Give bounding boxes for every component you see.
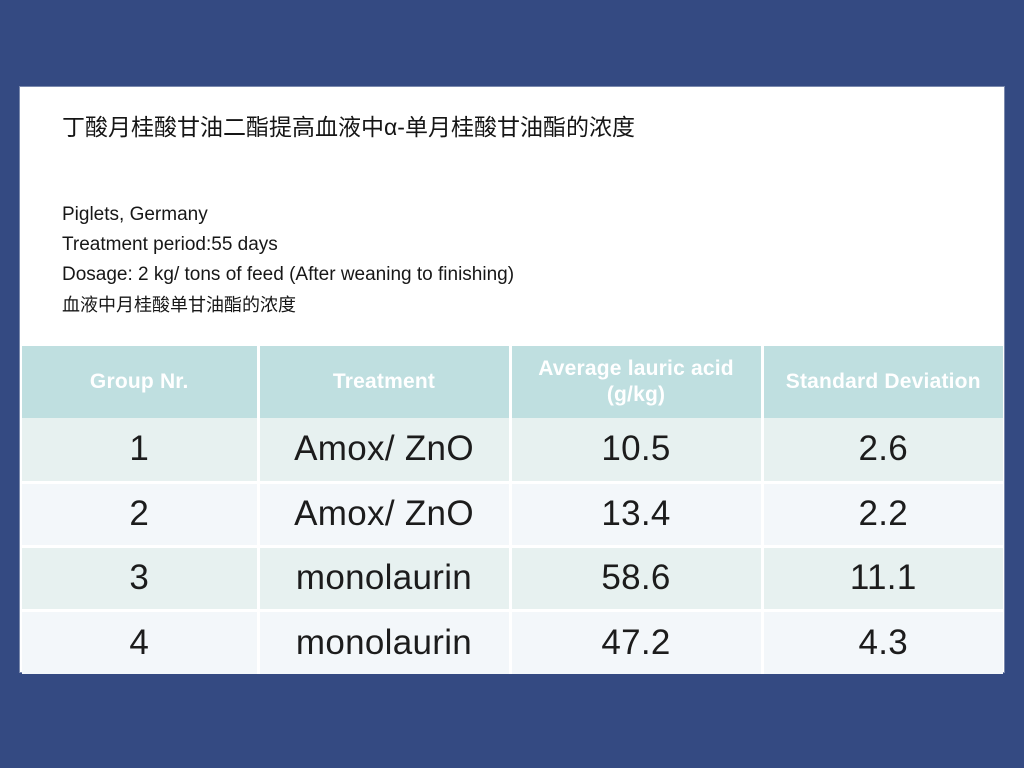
cell-stddev: 4.3	[762, 610, 1003, 674]
cell-group: 2	[22, 482, 258, 546]
table-row: 3 monolaurin 58.6 11.1	[22, 546, 1003, 610]
cell-average: 13.4	[510, 482, 762, 546]
cell-treatment: monolaurin	[258, 610, 510, 674]
cell-treatment: monolaurin	[258, 546, 510, 610]
body-line-dosage: Dosage: 2 kg/ tons of feed (After weanin…	[62, 260, 962, 290]
table-header-row: Group Nr. Treatment Average lauric acid …	[22, 346, 1003, 418]
cell-average: 10.5	[510, 418, 762, 482]
column-header-standard-deviation: Standard Deviation	[762, 346, 1003, 418]
body-line-period: Treatment period:55 days	[62, 230, 962, 260]
body-line-subtitle-cjk: 血液中月桂酸单甘油酯的浓度	[62, 290, 962, 320]
page-title: 丁酸月桂酸甘油二酯提高血液中α-单月桂酸甘油酯的浓度	[62, 112, 962, 142]
cell-treatment: Amox/ ZnO	[258, 482, 510, 546]
cell-stddev: 2.6	[762, 418, 1003, 482]
column-header-treatment: Treatment	[258, 346, 510, 418]
column-header-group: Group Nr.	[22, 346, 258, 418]
cell-group: 4	[22, 610, 258, 674]
cell-stddev: 11.1	[762, 546, 1003, 610]
table-row: 2 Amox/ ZnO 13.4 2.2	[22, 482, 1003, 546]
cell-group: 1	[22, 418, 258, 482]
column-header-average-lauric-acid: Average lauric acid (g/kg)	[510, 346, 762, 418]
table-row: 4 monolaurin 47.2 4.3	[22, 610, 1003, 674]
body-text-block: Piglets, Germany Treatment period:55 day…	[62, 200, 962, 320]
cell-group: 3	[22, 546, 258, 610]
cell-average: 47.2	[510, 610, 762, 674]
slide-canvas: 丁酸月桂酸甘油二酯提高血液中α-单月桂酸甘油酯的浓度 Piglets, Germ…	[20, 87, 1004, 672]
body-line-location: Piglets, Germany	[62, 200, 962, 230]
cell-stddev: 2.2	[762, 482, 1003, 546]
results-table: Group Nr. Treatment Average lauric acid …	[22, 346, 1003, 674]
cell-average: 58.6	[510, 546, 762, 610]
table-row: 1 Amox/ ZnO 10.5 2.6	[22, 418, 1003, 482]
cell-treatment: Amox/ ZnO	[258, 418, 510, 482]
